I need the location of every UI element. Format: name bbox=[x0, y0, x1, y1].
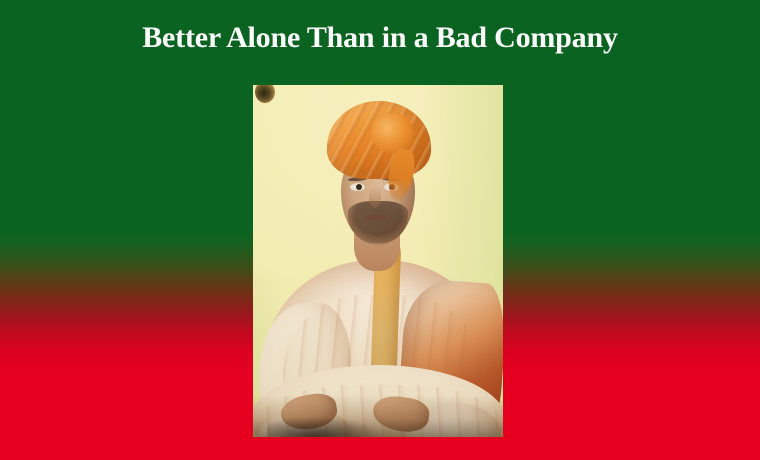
photo-base-dark bbox=[267, 411, 387, 437]
figure-pupil-left bbox=[356, 184, 362, 190]
turban-knot bbox=[371, 113, 413, 153]
figure-mouth bbox=[365, 215, 387, 220]
quote-poster: Better Alone Than in a Bad Company bbox=[0, 0, 760, 460]
page-title: Better Alone Than in a Bad Company bbox=[0, 20, 760, 56]
figure-nose bbox=[369, 186, 381, 208]
seated-figure bbox=[253, 85, 503, 437]
portrait-photograph bbox=[253, 85, 503, 437]
